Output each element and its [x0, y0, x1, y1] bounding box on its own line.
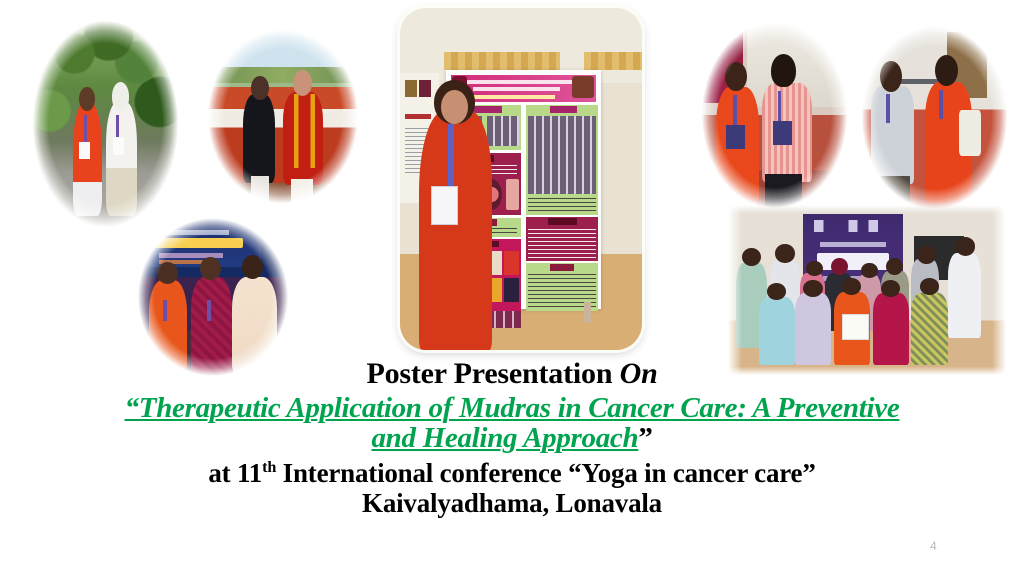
- person-red-kurta-head: [293, 70, 312, 96]
- slide-page-number: 4: [930, 539, 937, 553]
- poster-section-heading: [550, 106, 577, 113]
- group-member-seated: [873, 293, 909, 364]
- mudra-chart-grid: [487, 116, 518, 147]
- banner-line: [820, 242, 887, 247]
- body-diagram: [506, 179, 518, 210]
- tote-bag: [959, 110, 981, 157]
- caption-conference-prefix: at 11: [208, 458, 262, 488]
- group-member: [948, 253, 981, 338]
- presentation-title-line-1: “Therapeutic Application of Mudras in Ca…: [0, 393, 1024, 423]
- book-cover: [504, 251, 519, 275]
- person-red-kurta-head: [935, 55, 958, 86]
- lanyard-icon: [84, 115, 87, 144]
- group-member-head: [775, 244, 794, 263]
- presentation-title-line-2: and Healing Approach”: [0, 423, 1024, 453]
- banner-line: [155, 230, 229, 235]
- group-member-seated: [911, 293, 947, 364]
- adjacent-poster-block: [405, 80, 417, 97]
- group-member-head: [886, 258, 903, 275]
- banner-logos: [814, 220, 892, 232]
- person-grey-shirt-head: [880, 61, 902, 92]
- person-red-kurta-head: [725, 62, 747, 92]
- lanyard-icon: [886, 94, 890, 123]
- group-member-head: [803, 280, 822, 297]
- window-valance: [444, 52, 560, 69]
- poster-section-heading: [548, 218, 577, 225]
- caption-poster-presentation-text: Poster Presentation: [366, 357, 619, 390]
- group-member-head: [806, 261, 823, 276]
- foliage-band: [203, 67, 363, 84]
- person-black-kurta-head: [251, 76, 269, 100]
- photo-poster-presentation: [400, 8, 642, 350]
- lanyard-icon: [733, 95, 737, 127]
- orange-stole: [294, 94, 315, 168]
- presentation-title-line-1-text: “Therapeutic Application of Mudras in Ca…: [125, 392, 900, 424]
- banner-title-block: [155, 238, 243, 248]
- presentation-slide: Poster Presentation On “Therapeutic Appl…: [0, 0, 1024, 576]
- person-red-kurta-legs: [291, 179, 313, 209]
- badge-icon: [79, 142, 90, 160]
- person-white-turban-body: [106, 102, 137, 216]
- person-grey-shirt-body: [871, 86, 914, 184]
- group-member-head: [831, 258, 848, 275]
- photo-red-pink-pair: [697, 16, 852, 214]
- lanyard-icon: [207, 300, 211, 320]
- person-orange-kurta-body: [73, 102, 102, 216]
- caption-conference-ordinal-suffix: th: [262, 458, 276, 476]
- poster-body-text: [528, 198, 596, 212]
- lanyard-icon: [163, 300, 167, 320]
- poster-body-text: [528, 229, 596, 258]
- caption-line-conference: at 11th International conference “Yoga i…: [0, 459, 1024, 487]
- person-orange-head: [157, 262, 178, 284]
- person-pink-shirt-head: [771, 54, 796, 88]
- group-member-seated: [759, 297, 795, 365]
- badge-icon: [431, 186, 457, 226]
- person-orange-kurta-head: [79, 87, 95, 111]
- photo-three-women-banner: [133, 213, 293, 381]
- presenter-body: [419, 111, 492, 350]
- banner-title-block: [817, 253, 889, 270]
- caption-on-text: On: [620, 357, 658, 390]
- presentation-title-line-2-text: and Healing Approach: [371, 422, 638, 454]
- person-white-turban-head: [112, 82, 129, 111]
- group-member-head: [881, 280, 900, 297]
- lanyard-icon: [448, 124, 454, 186]
- adjacent-poster-heading: [405, 114, 432, 119]
- group-member-seated: [795, 293, 831, 364]
- caption-block: Poster Presentation On “Therapeutic Appl…: [0, 358, 1024, 517]
- badge-icon: [726, 125, 745, 149]
- caption-line-poster-presentation: Poster Presentation On: [0, 358, 1024, 389]
- group-member-head: [861, 263, 878, 278]
- poster-section-heading: [550, 264, 574, 271]
- photo-terrace-pair: [203, 24, 363, 209]
- certificate: [842, 314, 869, 340]
- book-cover: [504, 278, 519, 302]
- mudra-photo-grid: [528, 116, 596, 195]
- person-black-kurta-body: [243, 94, 275, 183]
- photo-outdoor-pair: [28, 14, 183, 234]
- author-photo: [572, 76, 594, 98]
- window-valance: [584, 52, 642, 69]
- poster-title-line: [458, 80, 579, 84]
- badge-icon: [113, 137, 124, 155]
- person-maroon-head: [200, 257, 221, 281]
- photo-group-banner: [728, 205, 1006, 375]
- poster-author-line: [473, 95, 555, 99]
- presentation-title-close-quote: ”: [638, 422, 652, 454]
- lanyard-icon: [778, 91, 782, 123]
- presentation-title: “Therapeutic Application of Mudras in Ca…: [0, 393, 1024, 453]
- lanyard-icon: [939, 90, 943, 119]
- photo-grey-red-pair: [857, 20, 1012, 215]
- adjacent-poster-block: [419, 80, 431, 97]
- easel-leg: [584, 302, 591, 323]
- badge-icon: [773, 121, 792, 145]
- presenter-face: [441, 90, 468, 124]
- poster-title-line: [473, 87, 560, 91]
- caption-line-venue: Kaivalyadhama, Lonavala: [0, 489, 1024, 517]
- caption-conference-suffix: International conference “Yoga in cancer…: [276, 458, 816, 488]
- person-black-kurta-legs: [251, 176, 269, 209]
- person-cream-head: [242, 255, 263, 279]
